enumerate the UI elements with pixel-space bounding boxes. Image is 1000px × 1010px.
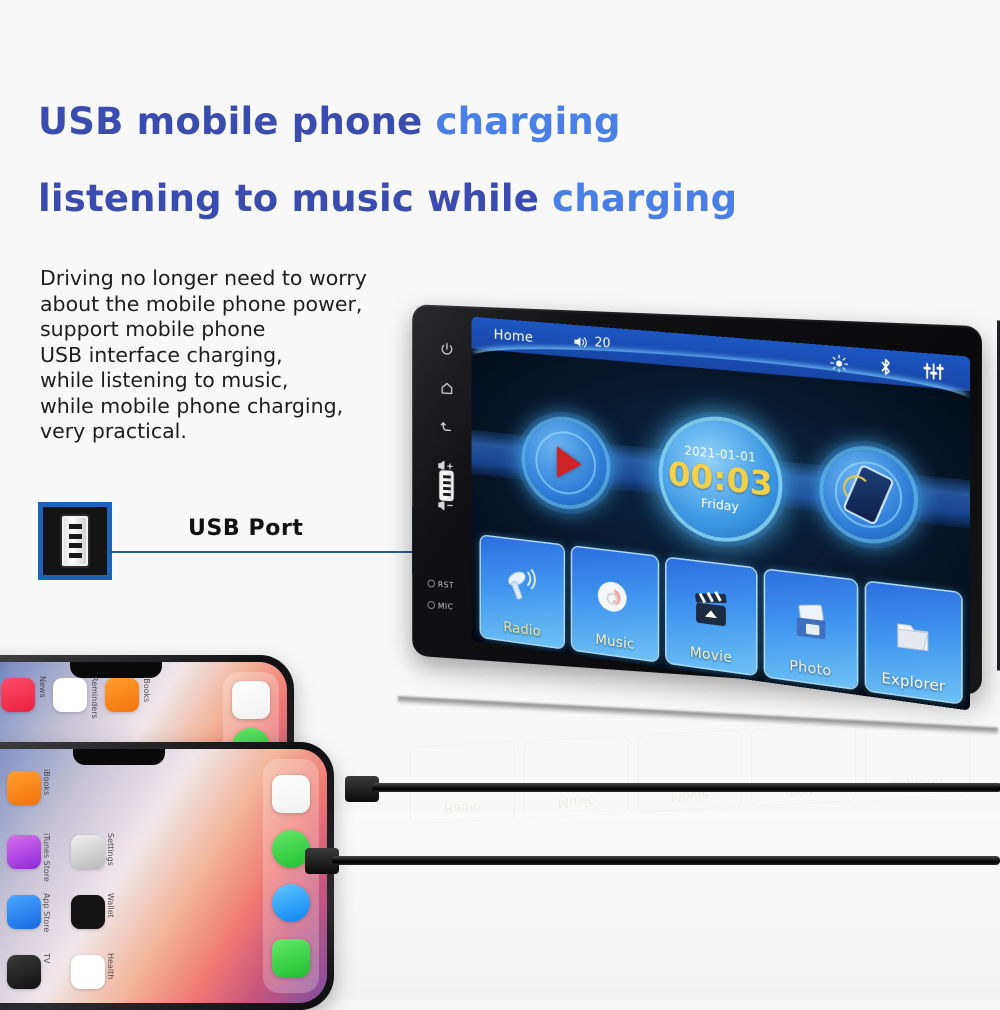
mic-hole-icon bbox=[427, 601, 435, 609]
radio-antenna-icon bbox=[501, 563, 544, 607]
headline-line2-light: charging bbox=[552, 177, 737, 220]
app-icon-itunes-store[interactable] bbox=[7, 835, 41, 869]
app-label-wallet: Wallet bbox=[106, 893, 115, 918]
callout-leader-line bbox=[110, 551, 415, 553]
description-line: very practical. bbox=[40, 419, 440, 445]
phone-front-dock bbox=[263, 759, 319, 993]
headline-line1-dark: USB mobile phone bbox=[38, 100, 436, 143]
clapperboard-icon bbox=[688, 587, 734, 633]
status-bar: Home 20 bbox=[472, 317, 970, 391]
car-stereo-head-unit: RST MIC Home bbox=[396, 305, 1000, 725]
app-icon-app-store[interactable] bbox=[7, 895, 41, 929]
app-icon-news[interactable] bbox=[1, 678, 35, 712]
clock-day: Friday bbox=[701, 495, 739, 514]
app-label-ibooks: iBooks bbox=[42, 769, 51, 795]
headline-line2-dark: listening to music while bbox=[38, 177, 552, 220]
app-tile-photo[interactable]: Photo bbox=[765, 570, 857, 689]
bluetooth-icon[interactable] bbox=[878, 356, 894, 377]
description-line: about the mobile phone power, bbox=[40, 292, 440, 318]
play-triangle-icon bbox=[557, 446, 582, 480]
charging-cable-back bbox=[372, 783, 1000, 792]
reset-label: RST bbox=[438, 580, 454, 590]
app-label: Movie bbox=[690, 645, 732, 667]
clock-widget[interactable]: 2021-01-01 00:03 Friday bbox=[663, 415, 779, 544]
home-label[interactable]: Home bbox=[494, 327, 533, 346]
equalizer-icon[interactable] bbox=[923, 361, 943, 381]
power-button[interactable] bbox=[426, 328, 468, 369]
app-label-health: Health bbox=[106, 953, 115, 979]
reflected-app: Photo bbox=[751, 723, 856, 806]
music-photos-icon[interactable] bbox=[232, 681, 270, 719]
app-tile-radio[interactable]: Radio bbox=[481, 536, 564, 648]
mic-port: MIC bbox=[426, 594, 468, 618]
device-bezel: RST MIC Home bbox=[412, 304, 982, 695]
reflected-app: Music bbox=[524, 735, 629, 818]
home-button[interactable] bbox=[426, 367, 468, 408]
phone-front: iBooks iTunes Store Settings App Store W… bbox=[0, 742, 334, 1010]
description-line: support mobile phone bbox=[40, 317, 440, 343]
app-label: Photo bbox=[789, 658, 831, 680]
app-label-settings: Settings bbox=[106, 833, 115, 866]
app-label-ibooks: iBooks bbox=[142, 676, 151, 702]
page-title: USB mobile phone charging listening to m… bbox=[38, 96, 798, 225]
app-icon-ibooks[interactable] bbox=[7, 771, 41, 805]
photo-box-icon bbox=[787, 599, 834, 646]
charging-cable-front bbox=[332, 856, 1000, 865]
app-label: Music bbox=[595, 632, 634, 653]
description-line: while mobile phone charging, bbox=[40, 394, 440, 420]
folder-icon bbox=[889, 612, 938, 660]
app-icon-ibooks[interactable] bbox=[105, 678, 139, 712]
app-label-news: News bbox=[38, 676, 47, 698]
usb-port-icon bbox=[60, 514, 90, 568]
volume-indicator[interactable]: 20 bbox=[573, 334, 611, 352]
back-button[interactable] bbox=[426, 406, 468, 447]
usb-port-callout-box bbox=[38, 502, 112, 580]
app-label: Radio bbox=[503, 620, 541, 641]
app-label-itunes-store: iTunes Store bbox=[42, 833, 51, 882]
usb-port-slot[interactable] bbox=[426, 524, 468, 575]
volume-value: 20 bbox=[595, 335, 611, 351]
usb-port-icon bbox=[438, 469, 454, 502]
app-label-app-store: App Store bbox=[42, 893, 51, 932]
mirror-link-button[interactable] bbox=[824, 446, 914, 544]
description-line: USB interface charging, bbox=[40, 343, 440, 369]
brightness-icon[interactable] bbox=[830, 353, 849, 373]
clock-time: 00:03 bbox=[668, 455, 773, 502]
app-label-tv: TV bbox=[42, 953, 51, 963]
app-label-reminders: Reminders bbox=[90, 676, 99, 719]
app-shortcut-row: Radio Music bbox=[481, 523, 961, 703]
phone-link-icon bbox=[842, 464, 895, 526]
headline-line1-light: charging bbox=[436, 100, 621, 143]
reflected-app: Movie bbox=[638, 729, 743, 812]
reset-port[interactable]: RST bbox=[426, 572, 468, 596]
app-icon-health[interactable] bbox=[71, 955, 105, 989]
music-note-icon bbox=[593, 575, 637, 620]
usb-port-label: USB Port bbox=[188, 516, 304, 541]
side-button-rail: RST MIC bbox=[426, 328, 468, 643]
description-paragraph: Driving no longer need to worry about th… bbox=[40, 266, 440, 445]
app-tile-music[interactable]: Music bbox=[572, 547, 658, 662]
description-line: while listening to music, bbox=[40, 368, 440, 394]
phone-front-screen[interactable]: iBooks iTunes Store Settings App Store W… bbox=[0, 749, 327, 1003]
touchscreen-display[interactable]: Home 20 bbox=[472, 317, 970, 711]
app-icon-settings[interactable] bbox=[71, 835, 105, 869]
promo-page: USB mobile phone charging listening to m… bbox=[0, 0, 1000, 1000]
music-photos-icon[interactable] bbox=[272, 775, 310, 813]
app-icon-reminders[interactable] bbox=[53, 678, 87, 712]
mic-label: MIC bbox=[438, 601, 454, 611]
app-icon-tv[interactable] bbox=[7, 955, 41, 989]
app-icon-wallet[interactable] bbox=[71, 895, 105, 929]
app-label: Explorer bbox=[881, 670, 945, 695]
volume-icon bbox=[573, 334, 589, 349]
safari-icon[interactable] bbox=[272, 884, 310, 922]
description-line: Driving no longer need to worry bbox=[40, 266, 440, 292]
reset-hole-icon bbox=[427, 579, 435, 587]
app-tile-explorer[interactable]: Explorer bbox=[866, 582, 961, 703]
app-tile-movie[interactable]: Movie bbox=[667, 558, 756, 675]
play-button[interactable] bbox=[525, 417, 606, 510]
phone-icon[interactable] bbox=[272, 939, 310, 977]
